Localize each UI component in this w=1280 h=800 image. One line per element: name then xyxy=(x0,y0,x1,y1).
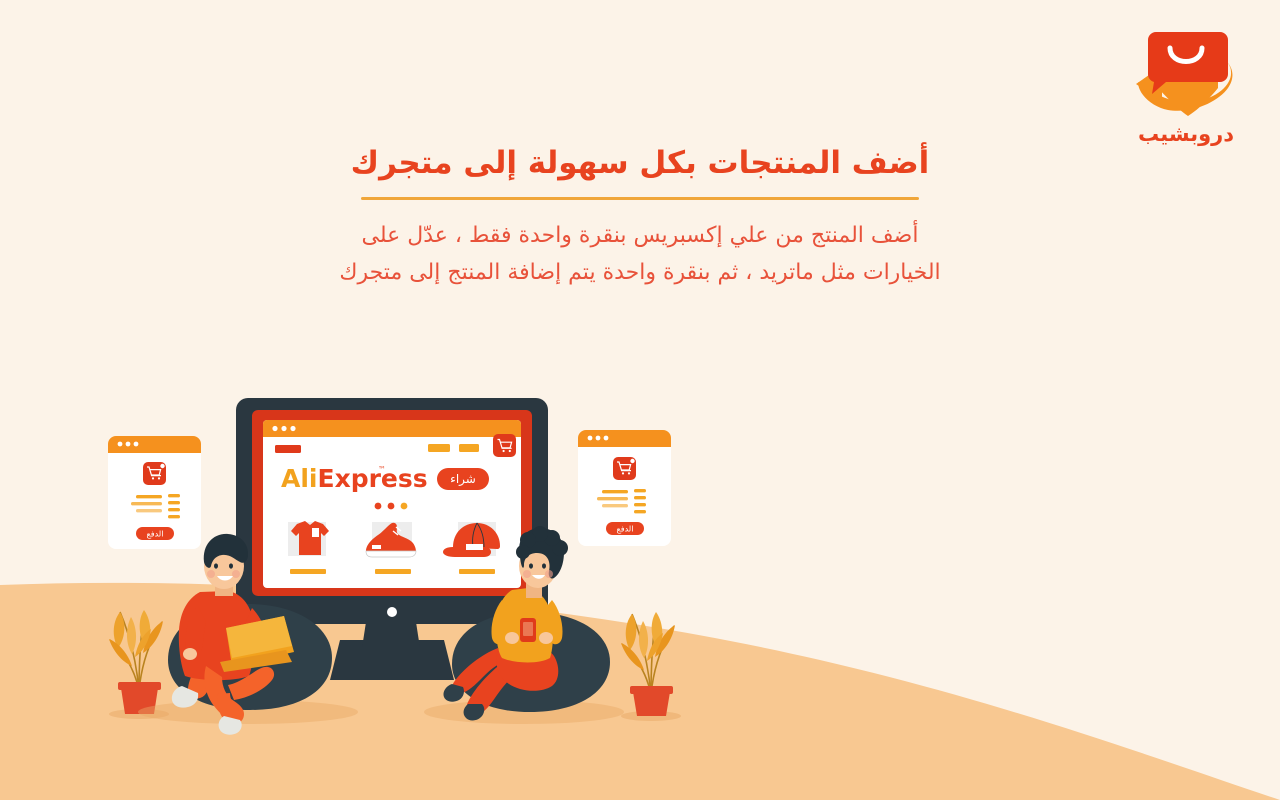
window-dot xyxy=(290,426,295,431)
window-dot xyxy=(134,442,139,447)
slide-canvas: دروبشيب أضف المنتجات بكل سهولة إلى متجرك… xyxy=(0,0,1280,800)
price-bar xyxy=(459,569,495,574)
monitor-stand xyxy=(362,622,420,648)
heading-underline xyxy=(361,197,919,200)
eye xyxy=(542,563,546,568)
svg-text:™: ™ xyxy=(378,465,386,474)
carousel-dot xyxy=(388,503,395,510)
browser-titlebar xyxy=(263,420,521,437)
subheading-line-2: الخيارات مثل ماتريد ، ثم بنقرة واحدة يتم… xyxy=(320,255,960,292)
nav-chip-active xyxy=(275,445,301,453)
window-dot xyxy=(604,436,609,441)
page-title: أضف المنتجات بكل سهولة إلى متجرك xyxy=(0,144,1280,183)
aliexpress-logo: AliExpress xyxy=(281,464,428,493)
eye xyxy=(529,563,533,568)
carousel-dot-active xyxy=(401,503,408,510)
price-bar xyxy=(375,569,411,574)
brand-logo[interactable]: دروبشيب xyxy=(1116,22,1256,162)
window-dot xyxy=(272,426,277,431)
checkout-card-right[interactable]: الدفع xyxy=(578,430,671,546)
window-dot xyxy=(118,442,123,447)
logo-wordmark: دروبشيب xyxy=(1138,124,1234,145)
potted-plant-left xyxy=(109,610,169,719)
cart-icon-button xyxy=(493,434,516,457)
window-dot xyxy=(588,436,593,441)
window-dot xyxy=(281,426,286,431)
headline-block: أضف المنتجات بكل سهولة إلى متجرك أضف الم… xyxy=(0,144,1280,292)
svg-text:الدفع: الدفع xyxy=(147,530,164,539)
eye xyxy=(229,563,233,568)
hero-illustration: الدفع الدفع xyxy=(0,0,1280,800)
hand xyxy=(539,632,553,644)
eye xyxy=(214,563,218,568)
shoe xyxy=(443,684,463,702)
svg-text:شراء: شراء xyxy=(450,472,476,487)
subheading-line-1: أضف المنتج من علي إكسبريس بنقرة واحدة فق… xyxy=(320,218,960,255)
hand xyxy=(505,632,519,644)
nav-chip xyxy=(459,444,479,452)
hand xyxy=(183,648,197,660)
checkout-card-left[interactable]: الدفع xyxy=(108,436,201,549)
subheading: أضف المنتج من علي إكسبريس بنقرة واحدة فق… xyxy=(320,218,960,292)
dropship-mark-icon xyxy=(1132,22,1240,122)
window-dot xyxy=(596,436,601,441)
nav-chip xyxy=(428,444,450,452)
price-bar xyxy=(290,569,326,574)
window-dot xyxy=(126,442,131,447)
power-led xyxy=(387,607,397,617)
svg-text:الدفع: الدفع xyxy=(617,525,634,534)
carousel-dot xyxy=(375,503,382,510)
potted-plant-right xyxy=(621,612,681,721)
